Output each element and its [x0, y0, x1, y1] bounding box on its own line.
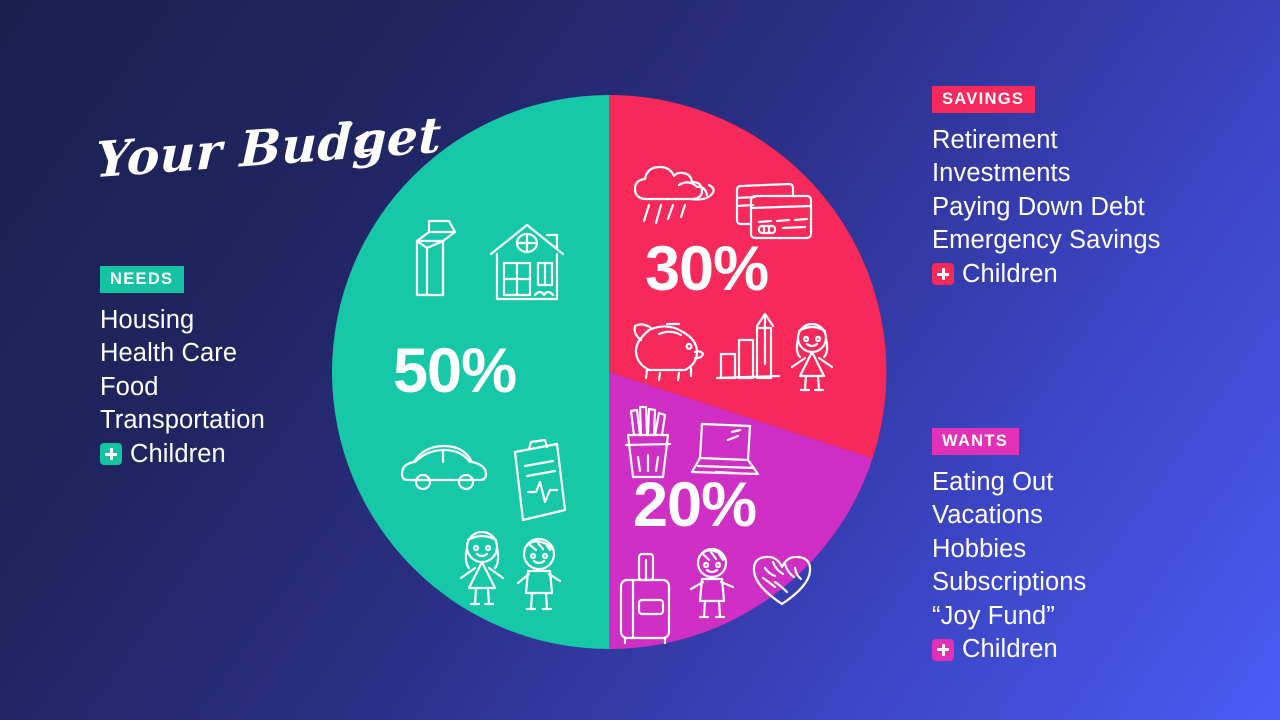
list-item: Transportation — [100, 404, 400, 438]
list-item: Paying Down Debt — [932, 191, 1252, 225]
list-item-children: Children — [932, 258, 1252, 292]
plus-icon — [100, 443, 122, 465]
list-item: Vacations — [932, 499, 1252, 533]
needs-panel: NEEDS Housing Health Care Food Transport… — [100, 266, 400, 471]
list-item: “Joy Fund” — [932, 600, 1252, 634]
children-label: Children — [130, 438, 226, 472]
medical-clipboard-icon — [505, 440, 569, 524]
rain-cloud-icon — [633, 165, 723, 233]
heart-icon — [751, 552, 813, 608]
piggy-bank-icon — [629, 318, 709, 380]
girl-child-icon — [455, 528, 509, 606]
credit-cards-icon — [733, 182, 815, 244]
list-item: Housing — [100, 304, 400, 338]
wants-badge: WANTS — [932, 428, 1019, 455]
children-label: Children — [962, 633, 1058, 667]
milk-carton-icon — [409, 219, 455, 299]
needs-percent-label: 50% — [393, 340, 516, 403]
french-fries-icon — [620, 405, 676, 479]
girl-child-icon — [787, 320, 837, 392]
list-item: Eating Out — [932, 466, 1252, 500]
list-item: Emergency Savings — [932, 224, 1252, 258]
savings-badge: SAVINGS — [932, 86, 1035, 113]
savings-percent-label: 30% — [645, 238, 768, 301]
suitcase-icon — [617, 552, 673, 644]
growth-chart-icon — [713, 310, 783, 382]
wants-item-list: Eating Out Vacations Hobbies Subscriptio… — [932, 466, 1252, 667]
wants-panel: WANTS Eating Out Vacations Hobbies Subsc… — [932, 428, 1252, 667]
savings-panel: SAVINGS Retirement Investments Paying Do… — [932, 86, 1252, 291]
list-item: Health Care — [100, 337, 400, 371]
wants-percent-label: 20% — [633, 474, 756, 537]
list-item: Hobbies — [932, 533, 1252, 567]
list-item-children: Children — [100, 438, 400, 472]
needs-item-list: Housing Health Care Food Transportation … — [100, 304, 400, 472]
plus-icon — [932, 263, 954, 285]
list-item-children: Children — [932, 633, 1252, 667]
savings-item-list: Retirement Investments Paying Down Debt … — [932, 124, 1252, 292]
plus-icon — [932, 639, 954, 661]
laptop-icon — [688, 420, 760, 478]
child-icon — [686, 545, 738, 619]
list-item: Food — [100, 371, 400, 405]
list-item: Investments — [932, 157, 1252, 191]
children-label: Children — [962, 258, 1058, 292]
boy-child-icon — [512, 535, 566, 611]
car-icon — [398, 440, 490, 492]
house-icon — [487, 221, 571, 303]
list-item: Retirement — [932, 124, 1252, 158]
list-item: Subscriptions — [932, 566, 1252, 600]
needs-badge: NEEDS — [100, 266, 184, 293]
